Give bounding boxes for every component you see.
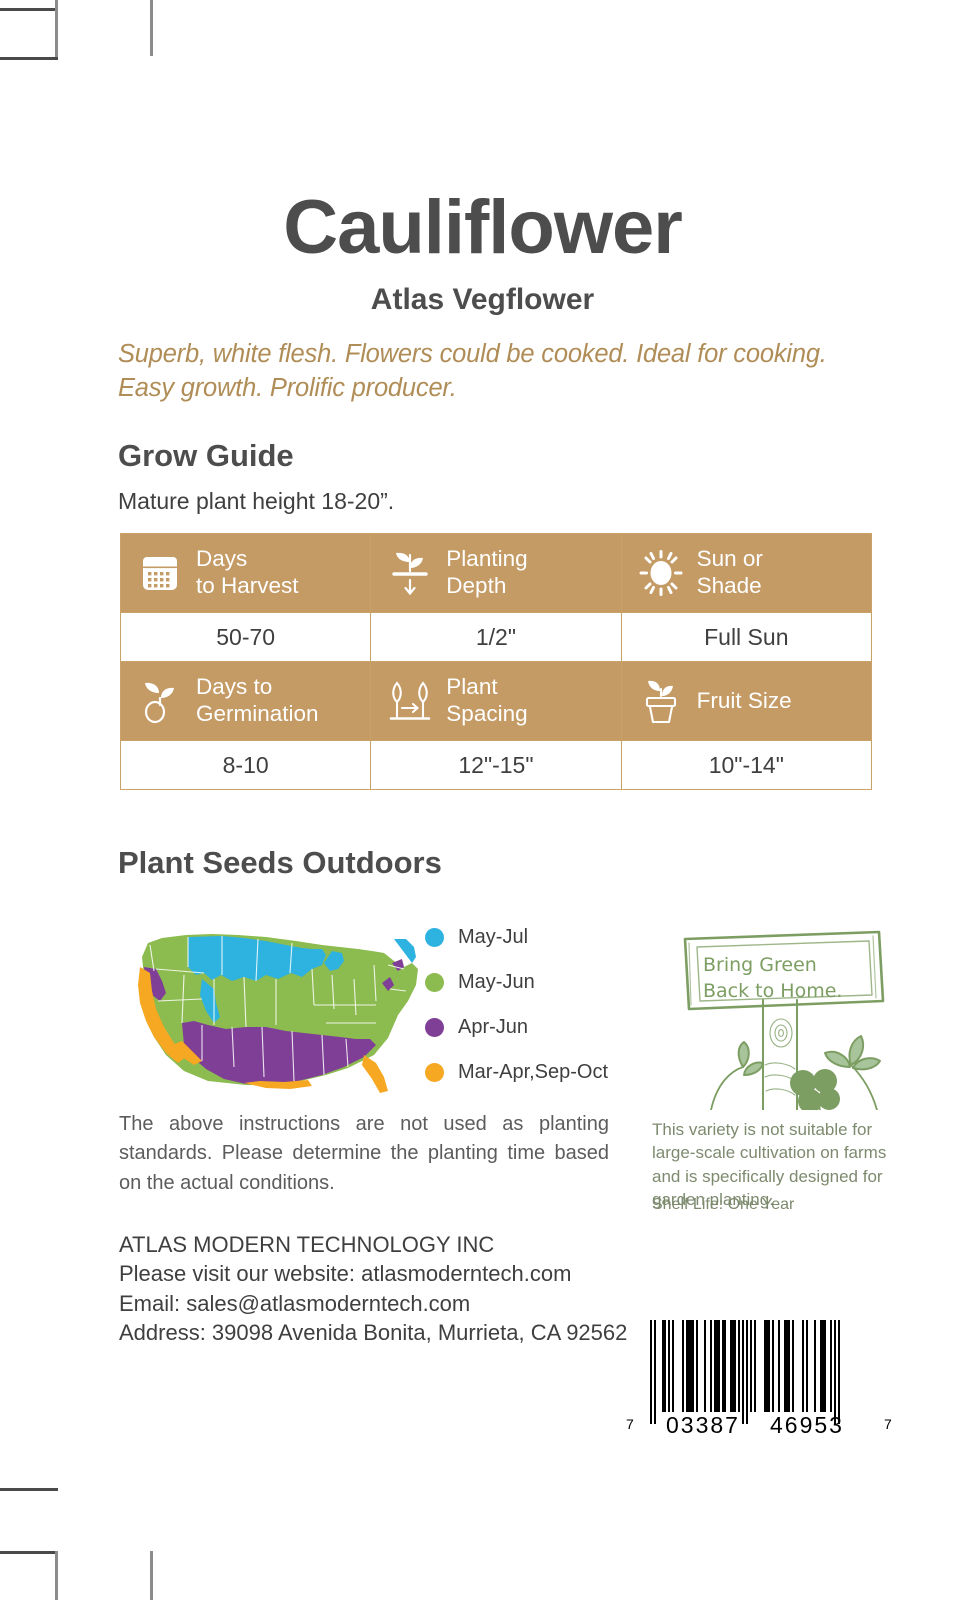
sprout-seed-icon bbox=[135, 676, 185, 726]
legend-item: May-Jul bbox=[425, 915, 640, 960]
barcode-lead-digit: 7 bbox=[626, 1416, 634, 1432]
table-row: 8-10 12"-15" 10"-14" bbox=[121, 741, 872, 790]
grow-label: Planting Depth bbox=[446, 546, 527, 599]
grow-value-sun-or-shade: Full Sun bbox=[621, 613, 871, 662]
mature-height-text: Mature plant height 18-20”. bbox=[118, 488, 394, 515]
grow-cell-fruit-size: Fruit Size bbox=[621, 662, 871, 741]
map-legend: May-Jul May-Jun Apr-Jun Mar-Apr,Sep-Oct bbox=[425, 915, 640, 1095]
barcode-bars bbox=[650, 1320, 840, 1412]
grow-value-days-to-harvest: 50-70 bbox=[121, 613, 371, 662]
grow-label: Days to Germination bbox=[196, 674, 319, 727]
grow-label: Plant Spacing bbox=[446, 674, 527, 727]
table-row: Days to Harvest bbox=[121, 534, 872, 613]
legend-swatch-apr-jun bbox=[425, 1018, 444, 1037]
barcode-left-group: 03387 bbox=[666, 1412, 740, 1439]
grow-guide-table: Days to Harvest bbox=[120, 533, 872, 790]
grow-guide-heading: Grow Guide bbox=[118, 438, 294, 474]
table-row: Days to Germination bbox=[121, 662, 872, 741]
grow-label: Fruit Size bbox=[697, 688, 792, 715]
planting-disclaimer: The above instructions are not used as p… bbox=[119, 1110, 609, 1198]
shelf-life-text: Shelf Life: One Year bbox=[652, 1196, 892, 1214]
barcode-right-group: 46953 bbox=[770, 1412, 844, 1439]
legend-label: May-Jul bbox=[458, 926, 528, 949]
company-address: Address: 39098 Avenida Bonita, Murrieta,… bbox=[119, 1318, 659, 1347]
grow-cell-days-to-harvest: Days to Harvest bbox=[121, 534, 371, 613]
grow-cell-plant-spacing: Plant Spacing bbox=[371, 662, 621, 741]
bring-green-sign-illustration: Bring Green Back to Home. bbox=[645, 905, 910, 1110]
company-website: Please visit our website: atlasmoderntec… bbox=[119, 1259, 659, 1288]
planting-zone-map bbox=[126, 905, 426, 1095]
legend-item: May-Jun bbox=[425, 960, 640, 1005]
barcode: 7 03387 46953 7 bbox=[620, 1320, 910, 1440]
plant-spacing-icon bbox=[385, 676, 435, 726]
grow-cell-sun-or-shade: Sun or Shade bbox=[621, 534, 871, 613]
sign-text-line-1: Bring Green bbox=[703, 954, 817, 976]
grow-value-planting-depth: 1/2" bbox=[371, 613, 621, 662]
grow-value-plant-spacing: 12"-15" bbox=[371, 741, 621, 790]
sun-icon bbox=[636, 548, 686, 598]
grow-label: Days to Harvest bbox=[196, 546, 299, 599]
grow-label: Sun or Shade bbox=[697, 546, 763, 599]
company-name: ATLAS MODERN TECHNOLOGY INC bbox=[119, 1230, 659, 1259]
seed-packet-back: Cauliflower Atlas Vegflower Superb, whit… bbox=[0, 0, 965, 1600]
barcode-trail-digit: 7 bbox=[884, 1416, 892, 1432]
seedling-depth-icon bbox=[385, 548, 435, 598]
legend-swatch-may-jul bbox=[425, 928, 444, 947]
table-row: 50-70 1/2" Full Sun bbox=[121, 613, 872, 662]
legend-item: Mar-Apr,Sep-Oct bbox=[425, 1050, 640, 1095]
grow-cell-days-to-germination: Days to Germination bbox=[121, 662, 371, 741]
grow-value-days-to-germination: 8-10 bbox=[121, 741, 371, 790]
company-info-block: ATLAS MODERN TECHNOLOGY INC Please visit… bbox=[119, 1230, 659, 1347]
legend-label: Apr-Jun bbox=[458, 1016, 528, 1039]
plant-outdoors-heading: Plant Seeds Outdoors bbox=[118, 845, 442, 881]
page-title: Cauliflower bbox=[0, 190, 965, 266]
potted-plant-icon bbox=[636, 676, 686, 726]
grow-cell-planting-depth: Planting Depth bbox=[371, 534, 621, 613]
calendar-icon bbox=[135, 548, 185, 598]
legend-swatch-mar-apr-sep-oct bbox=[425, 1063, 444, 1082]
sign-text-line-2: Back to Home. bbox=[703, 980, 842, 1002]
legend-swatch-may-jun bbox=[425, 973, 444, 992]
variety-subtitle: Atlas Vegflower bbox=[0, 283, 965, 317]
barcode-digits: 7 03387 46953 7 bbox=[620, 1412, 910, 1438]
tagline-text: Superb, white flesh. Flowers could be co… bbox=[118, 338, 888, 405]
legend-label: May-Jun bbox=[458, 971, 535, 994]
legend-item: Apr-Jun bbox=[425, 1005, 640, 1050]
grow-value-fruit-size: 10"-14" bbox=[621, 741, 871, 790]
company-email: Email: sales@atlasmoderntech.com bbox=[119, 1289, 659, 1318]
legend-label: Mar-Apr,Sep-Oct bbox=[458, 1061, 608, 1084]
